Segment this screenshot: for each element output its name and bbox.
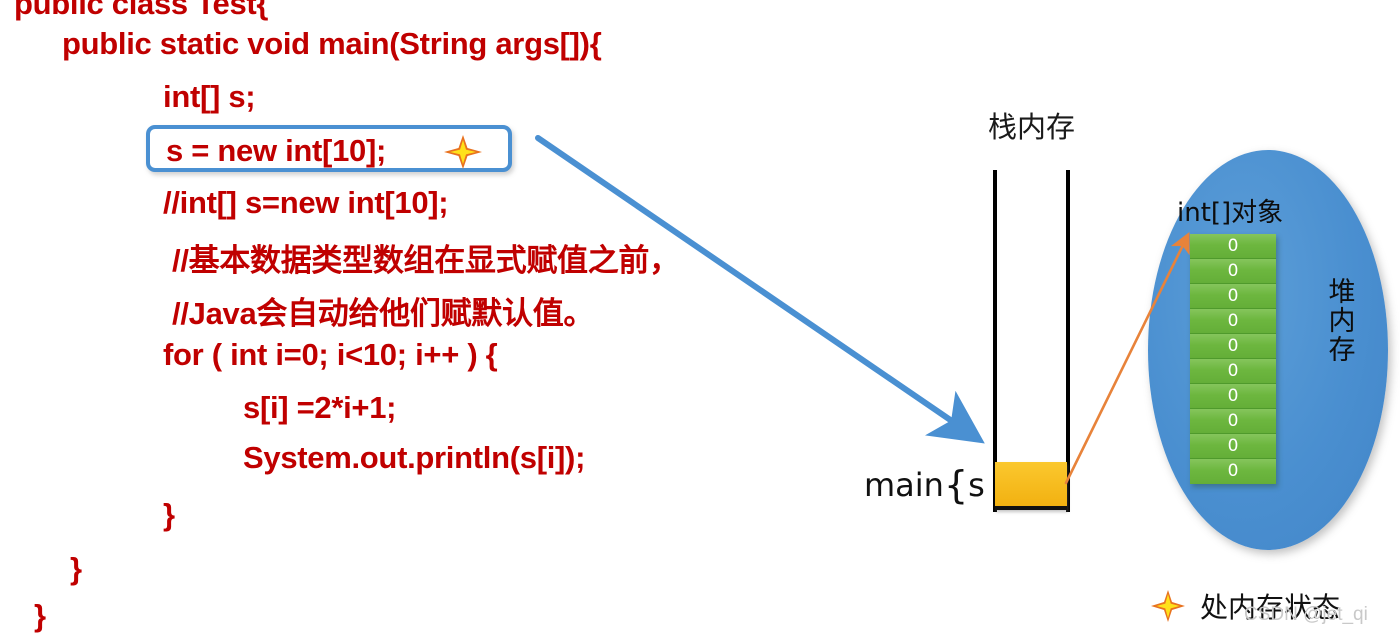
stack-variable-name: s — [968, 466, 985, 504]
stack-frame-label: main{s — [864, 466, 985, 504]
code-line-close-for: } — [163, 497, 175, 533]
code-panel: public class Test{ public static void ma… — [0, 0, 760, 636]
array-cell: 0 — [1190, 409, 1276, 434]
watermark: CSDN @jet_qi — [1244, 604, 1368, 626]
array-cell: 0 — [1190, 234, 1276, 259]
code-line-declare-s: int[] s; — [163, 79, 255, 115]
stack-frame-name: main — [864, 466, 944, 504]
code-line-class-decl: public class Test{ — [14, 0, 268, 22]
array-object-cells: 0 0 0 0 0 0 0 0 0 0 — [1190, 234, 1276, 484]
code-line-close-main: } — [70, 551, 82, 587]
code-line-close-class: } — [34, 598, 46, 634]
code-line-println: System.out.println(s[i]); — [243, 440, 585, 476]
star-icon — [1150, 589, 1186, 623]
heap-object-label: int[]对象 — [1177, 192, 1283, 229]
array-cell: 0 — [1190, 434, 1276, 459]
array-cell: 0 — [1190, 309, 1276, 334]
heap-memory-title: 堆内存 — [1326, 278, 1358, 365]
array-cell: 0 — [1190, 459, 1276, 484]
stack-wall-left — [993, 170, 997, 512]
highlighted-statement-box: s = new int[10]; — [146, 125, 512, 172]
code-line-for-loop: for ( int i=0; i<10; i++ ) { — [163, 337, 497, 373]
stack-variable-slot — [995, 462, 1067, 510]
stack-memory-title: 栈内存 — [988, 104, 1075, 146]
code-line-comment-cn-1: //基本数据类型数组在显式赋值之前， — [172, 235, 680, 280]
slide-canvas: public class Test{ public static void ma… — [0, 0, 1400, 636]
array-cell: 0 — [1190, 384, 1276, 409]
code-line-comment-cn-2: //Java会自动给他们赋默认值。 — [172, 288, 594, 333]
array-cell: 0 — [1190, 359, 1276, 384]
code-line-assign: s[i] =2*i+1; — [243, 390, 396, 426]
code-line-comment-decl: //int[] s=new int[10]; — [163, 185, 448, 221]
highlighted-statement-text: s = new int[10]; — [166, 133, 386, 169]
stack-wall-right — [1066, 170, 1070, 512]
code-line-main-method: public static void main(String args[]){ — [62, 26, 601, 62]
array-cell: 0 — [1190, 259, 1276, 284]
star-icon — [443, 134, 483, 170]
array-cell: 0 — [1190, 284, 1276, 309]
stack-frame-brace: { — [944, 463, 968, 507]
array-cell: 0 — [1190, 334, 1276, 359]
